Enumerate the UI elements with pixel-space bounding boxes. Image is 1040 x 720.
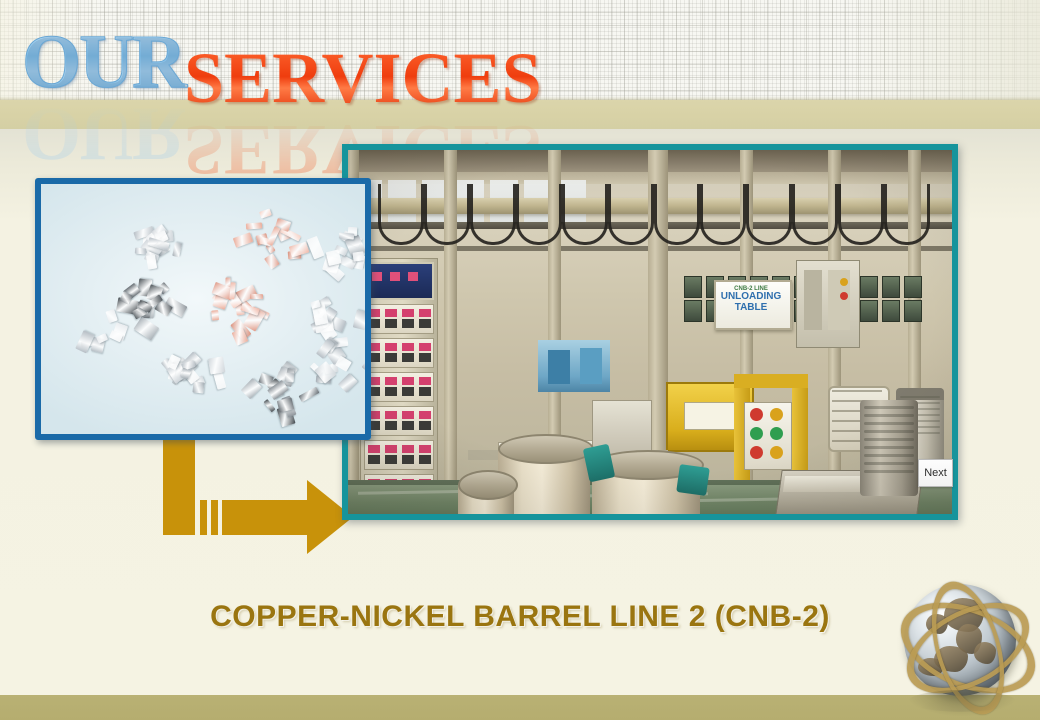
plated-part xyxy=(353,310,365,330)
plated-part xyxy=(339,232,354,240)
next-button[interactable]: Next xyxy=(918,459,953,487)
plated-part xyxy=(338,373,358,393)
arrow-bar-segment xyxy=(163,440,195,535)
plated-part xyxy=(361,353,365,374)
bottom-olive-band xyxy=(0,695,1040,720)
slide-caption: COPPER-NICKEL BARREL LINE 2 (CNB-2) xyxy=(0,600,1040,634)
plated-part xyxy=(96,333,108,343)
plated-part xyxy=(259,208,272,219)
plated-part xyxy=(263,399,275,412)
tan-header-band xyxy=(0,100,1040,129)
globe-graphic xyxy=(892,578,1040,720)
plated-part xyxy=(173,241,183,257)
plated-parts-photo[interactable] xyxy=(35,178,371,440)
factory-scene-content: CNB-2 LINEUNLOADINGTABLE xyxy=(348,150,952,514)
plated-part xyxy=(245,222,261,229)
plated-part xyxy=(146,254,157,269)
plated-part xyxy=(264,253,279,269)
plated-part xyxy=(289,242,309,258)
plated-part xyxy=(285,372,295,382)
main-factory-photo[interactable]: CNB-2 LINEUNLOADINGTABLE xyxy=(342,144,958,520)
photo-vignette xyxy=(348,150,952,514)
plated-part xyxy=(193,381,205,393)
striped-right-arrow-icon xyxy=(163,440,363,545)
plated-parts-content xyxy=(41,184,365,434)
plated-part xyxy=(211,310,219,321)
arrow-tick-segment-2 xyxy=(211,500,218,535)
grid-texture-fade-overlay xyxy=(0,0,1040,104)
plated-part xyxy=(353,251,365,262)
plated-part xyxy=(324,263,344,282)
plated-part xyxy=(299,387,320,403)
arrow-tick-segment-1 xyxy=(200,500,207,535)
slide-canvas: OUR SERVICES OUR OUR SERVICES CNB-2 LINE… xyxy=(0,0,1040,720)
plated-part xyxy=(233,232,253,248)
plated-part xyxy=(208,356,225,374)
arrow-shaft xyxy=(222,500,318,535)
plated-part xyxy=(250,294,263,299)
plated-part xyxy=(134,316,159,340)
globe-surface-reflection xyxy=(916,696,1006,711)
plated-part xyxy=(306,236,324,259)
